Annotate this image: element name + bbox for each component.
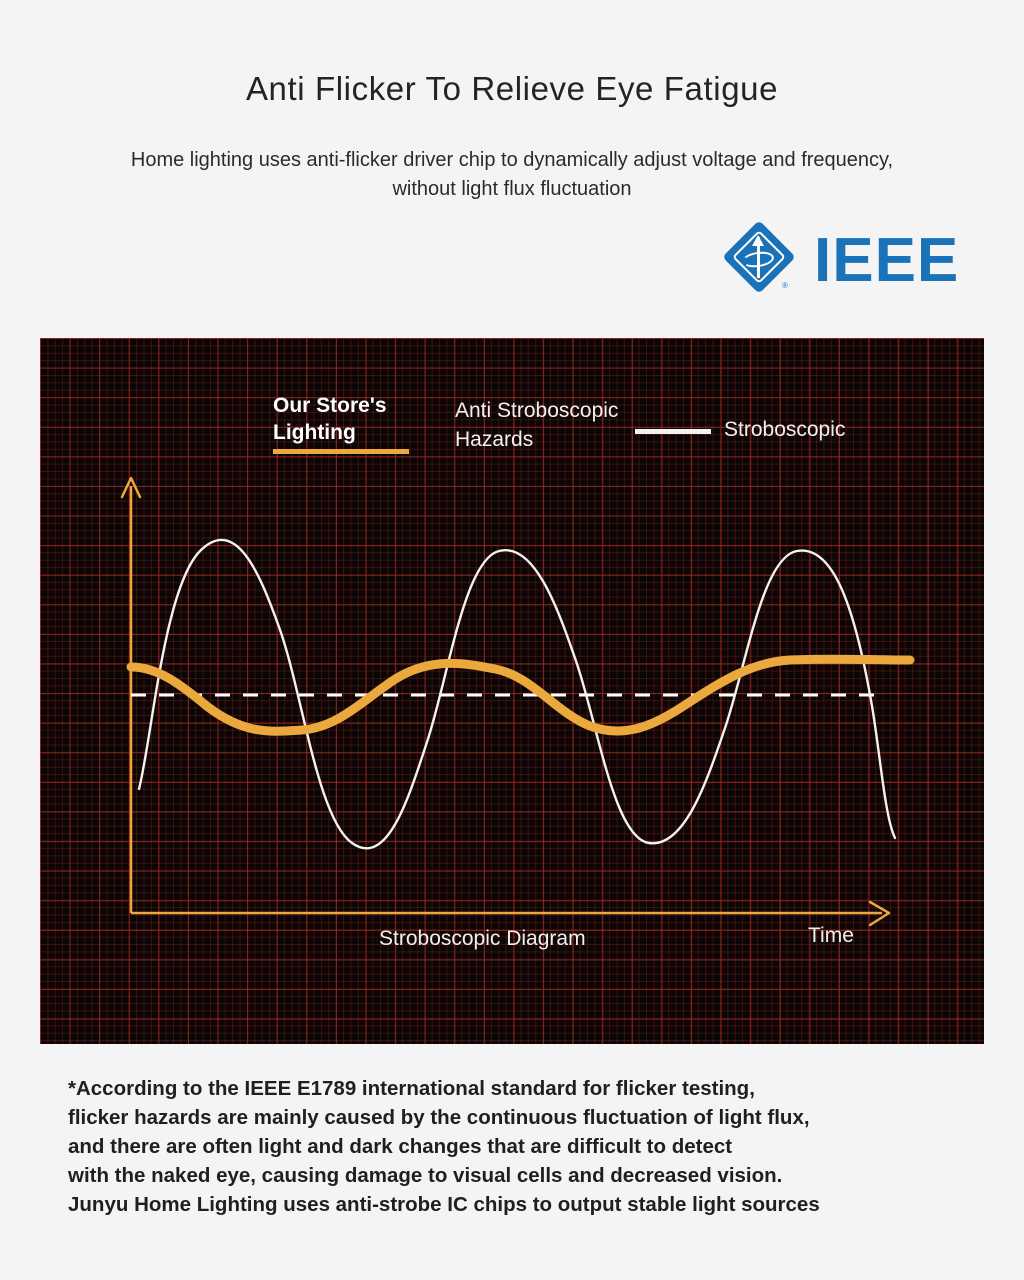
- footnote-line-3: and there are often light and dark chang…: [68, 1132, 968, 1161]
- x-axis: [131, 902, 889, 925]
- chart-plot-area: [40, 338, 984, 1044]
- footnote-line-2: flicker hazards are mainly caused by the…: [68, 1103, 968, 1132]
- registered-trademark-mark: ®: [782, 281, 788, 290]
- footnote-line-1: *According to the IEEE E1789 internation…: [68, 1074, 968, 1103]
- footnote-paragraph: *According to the IEEE E1789 internation…: [68, 1074, 968, 1219]
- footnote-line-4: with the naked eye, causing damage to vi…: [68, 1161, 968, 1190]
- ieee-wordmark: IEEE: [814, 230, 959, 292]
- footnote-line-5: Junyu Home Lighting uses anti-strobe IC …: [68, 1190, 968, 1219]
- page-subtitle: Home lighting uses anti-flicker driver c…: [112, 146, 912, 204]
- stroboscopic-chart-panel: Our Store's Lighting Anti Stroboscopic H…: [40, 338, 984, 1044]
- page-subtitle-line-1: Home lighting uses anti-flicker driver c…: [131, 149, 757, 171]
- page-title: Anti Flicker To Relieve Eye Fatigue: [0, 70, 1024, 108]
- ieee-logo: ® IEEE: [726, 222, 978, 300]
- ieee-diamond-icon: ®: [726, 224, 800, 298]
- ieee-arrow-icon: [757, 237, 760, 278]
